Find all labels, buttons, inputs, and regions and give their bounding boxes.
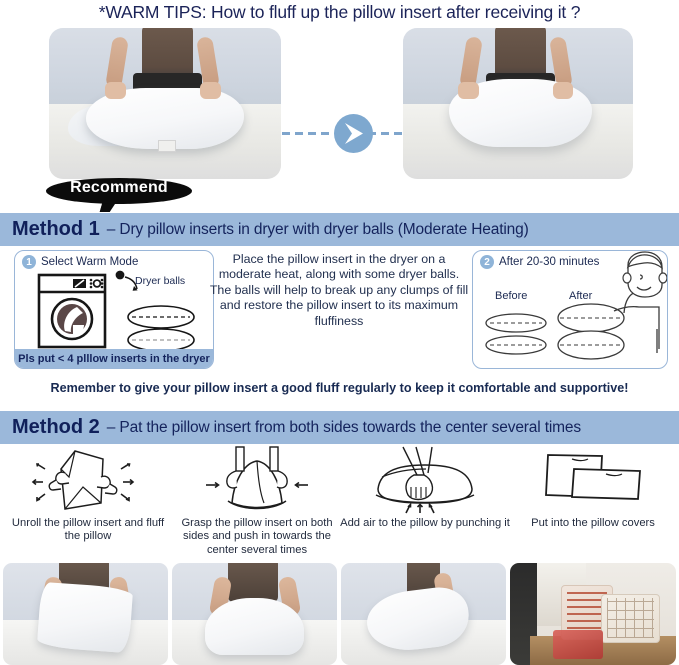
step-1-heading: 1 Select Warm Mode — [22, 255, 138, 269]
method-1-body: 1 Select Warm Mode — [0, 250, 679, 376]
method-1-header: Method 1 – Dry pillow inserts in dryer w… — [0, 213, 679, 246]
hero-photo-row — [0, 28, 679, 180]
grasp-pillow-icon — [172, 447, 342, 519]
method-2-number: Method 2 — [0, 416, 100, 439]
punch-pillow-icon — [340, 447, 510, 519]
bottom-photo-2 — [172, 563, 337, 665]
method-1-number: Method 1 — [0, 218, 100, 241]
pillow-covers-icon — [508, 447, 678, 519]
step-1-number-badge: 1 — [22, 255, 36, 269]
hero-photo-before — [49, 28, 281, 179]
bottom-photo-1 — [3, 563, 168, 665]
hero-photo-after — [403, 28, 633, 179]
method-2-step-1: Unroll the pillow insert and fluff the p… — [3, 447, 173, 555]
recommend-badge: Recommend — [46, 178, 192, 212]
method-2-step-1-caption: Unroll the pillow insert and fluff the p… — [3, 517, 173, 544]
method-2-step-2-caption: Grasp the pillow insert on both sides an… — [172, 517, 342, 557]
method-2-step-4: Put into the pillow covers — [508, 447, 678, 555]
method-2-steps: Unroll the pillow insert and fluff the p… — [0, 447, 679, 555]
dryer-capacity-note: Pls put < 4 plllow inserts in the dryer — [15, 349, 213, 368]
method-1-step-2-panel: 2 After 20-30 minutes Before After — [472, 250, 668, 369]
arrow-right-circle-icon — [334, 114, 373, 153]
unroll-pillow-icon — [3, 447, 173, 519]
method-1-step-1-panel: 1 Select Warm Mode — [14, 250, 214, 369]
recommend-badge-label: Recommend — [46, 179, 192, 197]
before-after-illustration — [473, 251, 667, 368]
method-2-step-4-caption: Put into the pillow covers — [508, 517, 678, 530]
method-2-subtitle: – Pat the pillow insert from both sides … — [100, 419, 581, 437]
page-title: *WARM TIPS: How to fluff up the pillow i… — [0, 2, 679, 23]
method-2-step-2: Grasp the pillow insert on both sides an… — [172, 447, 342, 555]
bottom-photo-4 — [510, 563, 676, 665]
method-1-subtitle: – Dry pillow inserts in dryer with dryer… — [100, 221, 529, 239]
method-2-step-3-caption: Add air to the pillow by punching it — [340, 517, 510, 530]
method-1-description: Place the pillow insert in the dryer on … — [208, 252, 470, 329]
hero-arrow — [282, 114, 402, 154]
step-1-label: Select Warm Mode — [36, 256, 138, 268]
bottom-photo-3 — [341, 563, 506, 665]
method-2-header: Method 2 – Pat the pillow insert from bo… — [0, 411, 679, 444]
reminder-text: Remember to give your pillow insert a go… — [0, 381, 679, 395]
bottom-photo-strip — [0, 563, 679, 665]
dryer-balls-label: Dryer balls — [135, 275, 185, 287]
method-2-step-3: Add air to the pillow by punching it — [340, 447, 510, 555]
infographic-page: *WARM TIPS: How to fluff up the pillow i… — [0, 0, 679, 665]
